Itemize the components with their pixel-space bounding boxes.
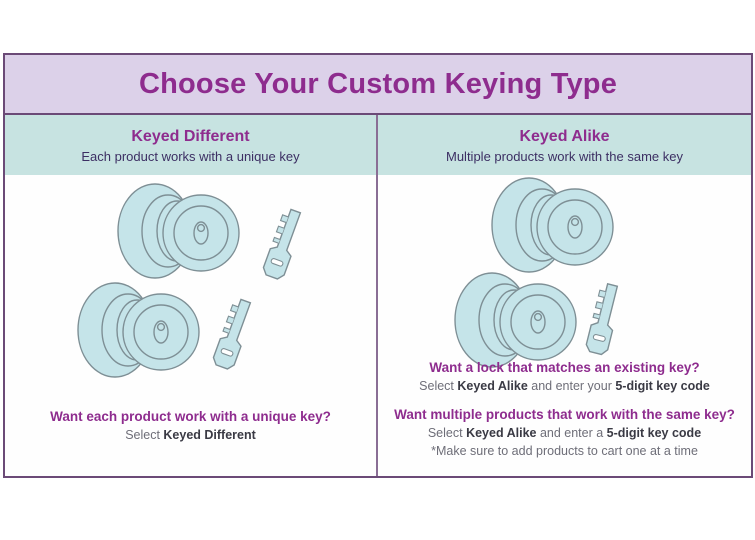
caption-group: Want multiple products that work with th…: [378, 405, 751, 460]
key-icon: [211, 297, 256, 370]
column-keyed-different: Keyed Different Each product works with …: [5, 115, 378, 476]
caption-answer-prefix: Select: [125, 428, 163, 442]
page-title: Choose Your Custom Keying Type: [139, 68, 617, 101]
caption-answer-bold: Keyed Alike: [457, 379, 527, 393]
door-knob-icon: [118, 184, 239, 278]
captions-keyed-alike: Want a lock that matches an existing key…: [378, 358, 751, 468]
column-title-keyed-alike: Keyed Alike: [519, 127, 609, 147]
caption-answer-prefix: Select: [428, 426, 466, 440]
columns-container: Keyed Different Each product works with …: [5, 115, 751, 476]
door-knob-icon: [78, 283, 199, 377]
caption-answer: Select Keyed Different: [5, 426, 376, 444]
caption-note: *Make sure to add products to cart one a…: [378, 442, 751, 460]
caption-question: Want a lock that matches an existing key…: [378, 358, 751, 377]
door-knob-icon: [492, 178, 613, 272]
caption-answer-mid: and enter your: [528, 379, 616, 393]
column-header-keyed-different: Keyed Different Each product works with …: [5, 115, 376, 175]
door-knob-icon: [455, 273, 576, 367]
key-icon: [585, 282, 623, 355]
keying-type-infographic: Choose Your Custom Keying Type Keyed Dif…: [3, 53, 753, 478]
caption-answer: Select Keyed Alike and enter a 5-digit k…: [378, 424, 751, 442]
caption-answer-mid: and enter a: [536, 426, 606, 440]
caption-group: Want each product work with a unique key…: [5, 407, 376, 444]
key-icon: [261, 207, 306, 280]
column-keyed-alike: Keyed Alike Multiple products work with …: [378, 115, 751, 476]
column-body-keyed-alike: Want a lock that matches an existing key…: [378, 175, 751, 476]
caption-question: Want multiple products that work with th…: [378, 405, 751, 424]
captions-keyed-different: Want each product work with a unique key…: [5, 407, 376, 452]
caption-answer-prefix: Select: [419, 379, 457, 393]
caption-answer-bold2: 5-digit key code: [615, 379, 709, 393]
infographic-header: Choose Your Custom Keying Type: [5, 55, 751, 115]
column-subtitle-keyed-alike: Multiple products work with the same key: [446, 148, 683, 166]
column-body-keyed-different: Want each product work with a unique key…: [5, 175, 376, 476]
caption-answer-bold: Keyed Alike: [466, 426, 536, 440]
caption-answer-bold2: 5-digit key code: [607, 426, 701, 440]
caption-answer-bold: Keyed Different: [163, 428, 255, 442]
column-title-keyed-different: Keyed Different: [131, 127, 249, 147]
column-header-keyed-alike: Keyed Alike Multiple products work with …: [378, 115, 751, 175]
caption-question: Want each product work with a unique key…: [5, 407, 376, 426]
caption-group: Want a lock that matches an existing key…: [378, 358, 751, 395]
column-subtitle-keyed-different: Each product works with a unique key: [81, 148, 299, 166]
caption-answer: Select Keyed Alike and enter your 5-digi…: [378, 377, 751, 395]
